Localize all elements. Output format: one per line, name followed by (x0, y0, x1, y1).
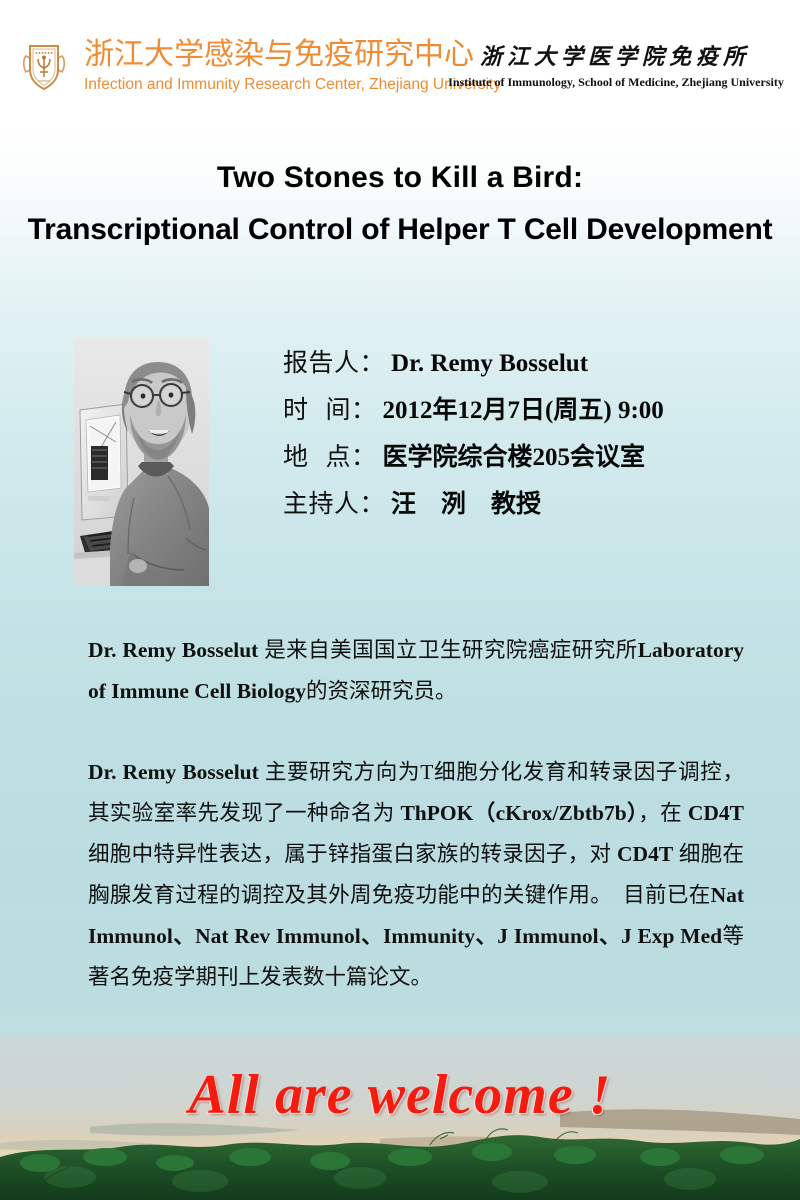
title-line-2: Transcriptional Control of Helper T Cell… (0, 215, 800, 245)
welcome-text: All are welcome ! (0, 1063, 800, 1127)
org-name-en: Infection and Immunity Research Center, … (84, 77, 501, 93)
info-label-venue: 地点： (283, 437, 377, 473)
org-name-cn: 浙江大学感染与免疫研究中心 (84, 40, 474, 70)
poster-title: Two Stones to Kill a Bird: Transcription… (0, 163, 800, 245)
info-value-host: 汪 洌 教授 (385, 484, 541, 520)
zju-shield-crest-icon (22, 40, 70, 96)
info-label-speaker: 报告人： (283, 343, 385, 379)
info-value-venue: 医学院综合楼205会议室 (377, 437, 646, 473)
institute-name-en: Institute of Immunology, School of Medic… (446, 76, 786, 88)
info-label-host: 主持人： (283, 484, 385, 520)
poster-header: 浙江大学感染与免疫研究中心 Infection and Immunity Res… (0, 0, 800, 110)
speaker-photo (74, 338, 209, 586)
info-row-host: 主持人： 汪 洌 教授 (283, 484, 783, 531)
bio-paragraph-1: Dr. Remy Bosselut 是来自美国国立卫生研究院癌症研究所Labor… (88, 630, 744, 712)
title-line-1: Two Stones to Kill a Bird: (0, 163, 800, 193)
seminar-poster: 浙江大学感染与免疫研究中心 Infection and Immunity Res… (0, 0, 800, 1200)
info-value-time: 2012年12月7日(周五) 9:00 (377, 390, 664, 426)
info-label-time: 时间： (283, 390, 377, 426)
bio-paragraph-2: Dr. Remy Bosselut 主要研究方向为T细胞分化发育和转录因子调控，… (88, 752, 744, 998)
institute-name-cn: 浙江大学医学院免疫所 (450, 45, 780, 69)
info-row-speaker: 报告人： Dr. Remy Bosselut (283, 343, 783, 390)
info-value-speaker: Dr. Remy Bosselut (385, 350, 588, 378)
info-row-time: 时间： 2012年12月7日(周五) 9:00 (283, 390, 783, 437)
info-row-venue: 地点： 医学院综合楼205会议室 (283, 437, 783, 484)
event-info-block: 报告人： Dr. Remy Bosselut 时间： 2012年12月7日(周五… (283, 343, 783, 531)
